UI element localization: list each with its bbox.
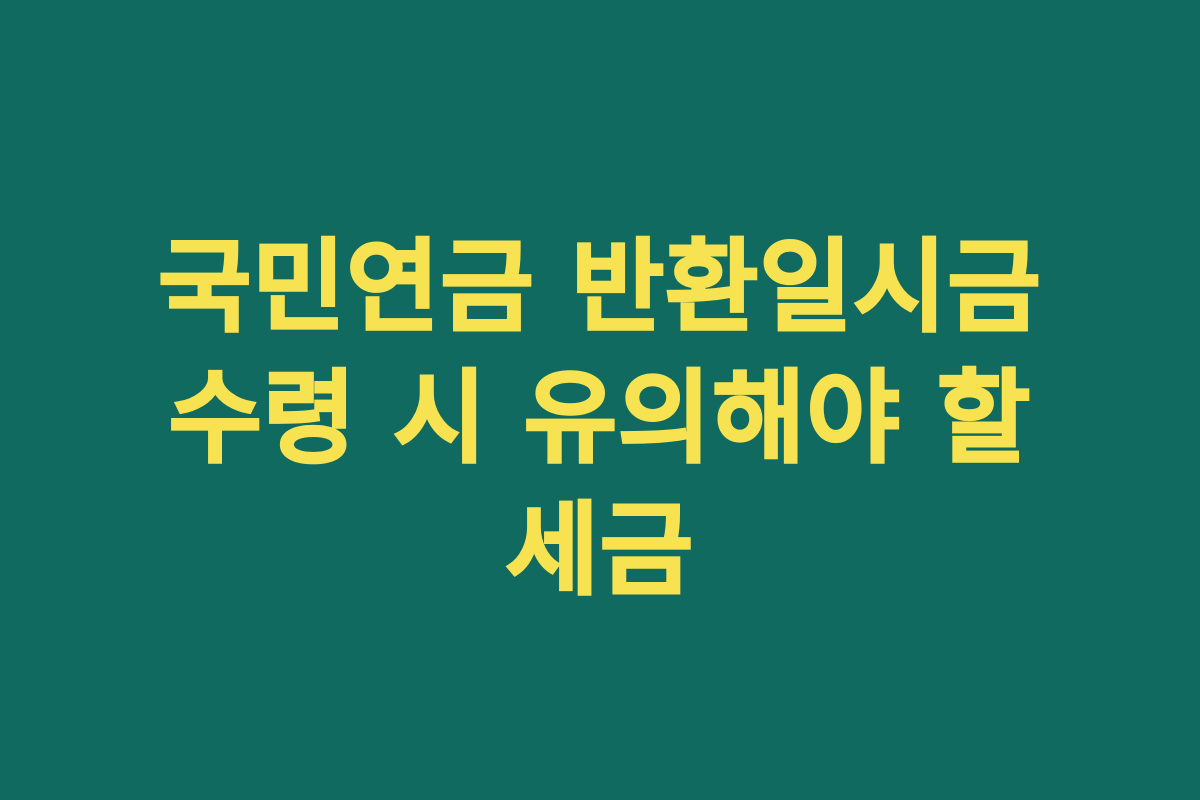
- page-title: 국민연금 반환일시금 수령 시 유의해야 할 세금: [95, 222, 1105, 616]
- title-card: 국민연금 반환일시금 수령 시 유의해야 할 세금: [0, 0, 1200, 800]
- headline-block: 국민연금 반환일시금 수령 시 유의해야 할 세금: [95, 222, 1105, 616]
